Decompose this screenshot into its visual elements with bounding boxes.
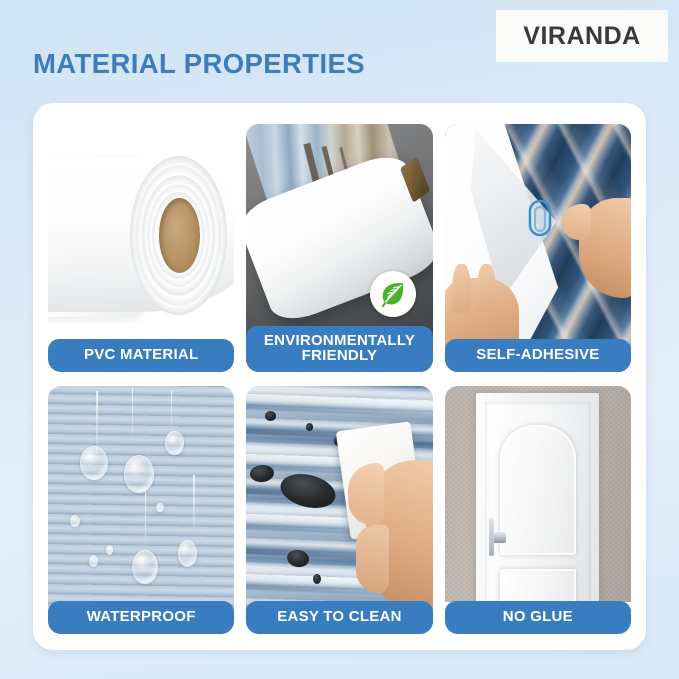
feature-label-pvc-material: PVC MATERIAL: [48, 339, 234, 372]
waterproof-image: [48, 386, 234, 634]
feature-label-waterproof: WATERPROOF: [48, 601, 234, 634]
feature-label-no-glue: NO GLUE: [445, 601, 631, 634]
paperclip-icon: [527, 198, 553, 238]
feature-tile-environmentally-friendly[interactable]: ENVIRONMENTALLY FRIENDLY: [246, 124, 432, 372]
self-adhesive-image: [445, 124, 631, 372]
door-frame: [476, 393, 599, 634]
feature-tile-waterproof[interactable]: WATERPROOF: [48, 386, 234, 634]
brand-logo: VIRANDA: [496, 10, 668, 62]
feature-label-easy-to-clean: EASY TO CLEAN: [246, 601, 432, 634]
feature-tile-easy-to-clean[interactable]: EASY TO CLEAN: [246, 386, 432, 634]
page-title: MATERIAL PROPERTIES: [33, 48, 365, 80]
door-handle-icon: [489, 532, 506, 544]
pvc-roll-image: [48, 124, 234, 372]
features-card: PVC MATERIAL: [33, 103, 646, 650]
brand-name: VIRANDA: [523, 22, 640, 51]
features-grid: PVC MATERIAL: [48, 124, 631, 634]
easy-to-clean-image: [246, 386, 432, 634]
feature-tile-pvc-material[interactable]: PVC MATERIAL: [48, 124, 234, 372]
feature-tile-self-adhesive[interactable]: SELF-ADHESIVE: [445, 124, 631, 372]
no-glue-door-image: [445, 386, 631, 634]
feature-tile-no-glue[interactable]: NO GLUE: [445, 386, 631, 634]
page-header: MATERIAL PROPERTIES VIRANDA: [0, 0, 679, 103]
door-slab: [485, 402, 591, 634]
roll-core: [159, 198, 200, 272]
hand-holding-cloth: [366, 460, 433, 614]
feature-label-self-adhesive: SELF-ADHESIVE: [445, 339, 631, 372]
feature-label-environmentally-friendly: ENVIRONMENTALLY FRIENDLY: [246, 326, 432, 373]
